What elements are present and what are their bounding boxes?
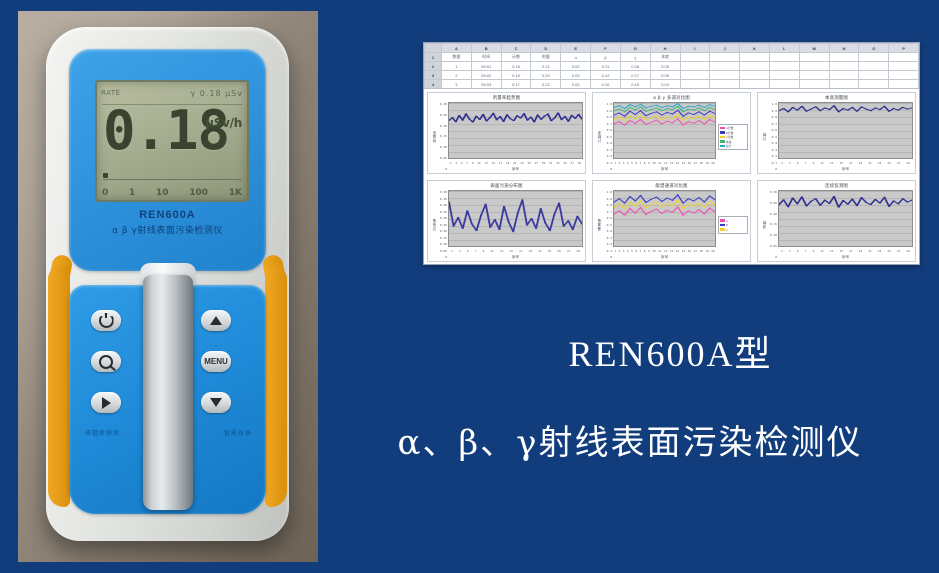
x-tick: 14 — [676, 249, 679, 253]
legend-swatch — [720, 219, 725, 222]
chart-body: 剂量率0.300.250.200.150.100.050135791113151… — [430, 102, 583, 172]
column-header[interactable]: M — [799, 44, 829, 53]
legend-label: γ — [726, 228, 728, 232]
y-tick: 0.1 — [607, 250, 612, 253]
x-tick: 19 — [859, 249, 862, 253]
x-tick: 7 — [805, 161, 807, 165]
x-tick: 3 — [623, 249, 625, 253]
x-axis-label: 序号 — [448, 254, 583, 260]
x-tick: 12 — [664, 161, 667, 165]
chevron-up-icon — [210, 316, 222, 325]
table-cell[interactable]: 本底 — [650, 53, 680, 62]
x-tick: 13 — [670, 161, 673, 165]
x-tick: 7 — [466, 161, 468, 165]
x-tick: 11 — [658, 249, 661, 253]
x-tick: 10 — [652, 249, 655, 253]
plot-wrapper: 1357911131517192123252729序号 — [778, 102, 913, 172]
table-cell[interactable] — [710, 53, 740, 62]
y-tick: 0 — [445, 256, 447, 259]
table-cell[interactable]: 0.02 — [561, 80, 591, 89]
chart-body: 计数率1.00.90.80.70.60.50.40.30.20.10123456… — [595, 102, 748, 172]
legend-swatch — [720, 131, 725, 134]
column-header[interactable]: E — [561, 44, 591, 53]
table-cell[interactable] — [740, 71, 770, 80]
x-tick: 6 — [635, 161, 637, 165]
table-cell[interactable] — [889, 71, 919, 80]
plot-area — [778, 102, 913, 159]
chart-panel-chart-1[interactable]: 剂量率趋势图剂量率0.300.250.200.150.100.050135791… — [427, 92, 586, 174]
table-cell[interactable] — [799, 80, 829, 89]
y-tick: 0.30 — [770, 191, 777, 194]
table-cell[interactable]: 0.10 — [591, 80, 621, 89]
table-cell[interactable] — [799, 53, 829, 62]
x-tick: 19 — [529, 249, 532, 253]
x-tick: 17 — [849, 249, 852, 253]
x-tick: 19 — [705, 249, 708, 253]
y-tick: 0.50 — [440, 191, 447, 194]
table-cell[interactable]: 1 — [442, 62, 472, 71]
table-row[interactable]: 3209:020.190.200.030.120.170.05 — [425, 71, 919, 80]
y-tick: 0.9 — [772, 110, 777, 113]
x-tick: 29 — [907, 161, 910, 165]
x-tick: 25 — [557, 249, 560, 253]
y-tick: 0 — [610, 256, 612, 259]
y-tick: 0 — [610, 168, 612, 171]
y-tick: 0.2 — [772, 155, 777, 158]
x-tick: 2 — [618, 249, 620, 253]
x-tick: 13 — [484, 161, 487, 165]
legend-swatch — [720, 127, 725, 130]
y-tick: 0 — [775, 168, 777, 171]
table-cell[interactable] — [889, 53, 919, 62]
y-tick: 0.25 — [440, 114, 447, 117]
x-tick: 4 — [627, 249, 629, 253]
table-row[interactable]: 4309:030.170.220.020.100.190.04 — [425, 80, 919, 89]
chart-svg — [614, 103, 715, 158]
y-tick: 0.05 — [770, 245, 777, 248]
x-tick: 5 — [797, 161, 799, 165]
y-axis-ticks: 1.00.90.80.70.60.50.40.30.20.10 — [601, 102, 613, 172]
x-tick: 5 — [631, 249, 633, 253]
chart-title: α β γ 多道对比图 — [595, 95, 748, 102]
x-tick: 4 — [627, 161, 629, 165]
column-header[interactable]: F — [591, 44, 621, 53]
chart-panel-chart-6[interactable]: 连续监测图读数0.300.250.200.150.100.05013579111… — [757, 180, 916, 262]
row-header[interactable]: 2 — [425, 62, 442, 71]
column-header[interactable]: D — [531, 44, 561, 53]
y-axis-ticks: 1.00.90.80.70.60.50.40.30.20.10 — [766, 102, 778, 172]
y-tick: 0.15 — [770, 223, 777, 226]
search-icon — [99, 355, 113, 369]
legend-entry: 总计 — [720, 144, 746, 149]
x-axis-label: 序号 — [778, 254, 913, 260]
legend-swatch — [720, 145, 725, 148]
plot-area — [448, 190, 583, 247]
table-cell[interactable] — [889, 62, 919, 71]
y-tick: 0.20 — [440, 230, 447, 233]
table-cell[interactable]: 0.18 — [620, 62, 650, 71]
chart-svg — [449, 103, 582, 158]
x-tick: 25 — [887, 249, 890, 253]
table-row[interactable]: 1数据时间计数剂量αβγ本底 — [425, 53, 919, 62]
table-cell[interactable]: 0.02 — [561, 62, 591, 71]
table-cell[interactable]: 0.21 — [531, 62, 561, 71]
x-tick: 13 — [500, 249, 503, 253]
legend-label: 总计 — [726, 144, 732, 148]
y-tick: 0.7 — [772, 123, 777, 126]
column-header[interactable]: G — [620, 44, 650, 53]
legend-label: β — [726, 223, 728, 227]
table-cell[interactable] — [740, 62, 770, 71]
table-cell[interactable]: 0.22 — [531, 80, 561, 89]
table-cell[interactable]: γ — [620, 53, 650, 62]
spreadsheet-header-row: ABCDEFGHIJKLMNOP — [425, 44, 919, 53]
x-tick: 5 — [631, 161, 633, 165]
table-row[interactable]: 2109:010.180.210.020.110.180.05 — [425, 62, 919, 71]
chevron-down-icon — [210, 398, 222, 407]
x-axis-label: 序号 — [448, 166, 583, 172]
legend-label: β计数 — [726, 131, 733, 135]
table-cell[interactable] — [710, 80, 740, 89]
chart-title: 能谱通道对比图 — [595, 183, 748, 190]
table-cell[interactable]: 0.17 — [620, 71, 650, 80]
x-tick: 27 — [897, 161, 900, 165]
table-cell[interactable] — [799, 62, 829, 71]
x-tick: 14 — [676, 161, 679, 165]
table-cell[interactable] — [859, 71, 889, 80]
y-tick: 0.6 — [607, 129, 612, 132]
plot-area — [613, 190, 716, 247]
lcd-primary-reading: 0.18 — [103, 104, 229, 158]
x-tick: 19 — [859, 161, 862, 165]
y-tick: 0.05 — [440, 157, 447, 160]
column-header[interactable]: B — [471, 44, 501, 53]
grip-right — [265, 265, 287, 507]
table-cell[interactable]: 2 — [442, 71, 472, 80]
y-tick: 0.9 — [607, 198, 612, 201]
y-tick: 0.25 — [440, 224, 447, 227]
column-header[interactable]: I — [680, 44, 710, 53]
search-button[interactable] — [91, 351, 121, 372]
table-cell[interactable] — [680, 80, 710, 89]
lcd-unit-label: μSv/h — [205, 116, 242, 130]
table-cell[interactable]: α — [561, 53, 591, 62]
chart-grid: 剂量率趋势图剂量率0.300.250.200.150.100.050135791… — [424, 89, 919, 265]
x-tick: 11 — [490, 249, 493, 253]
x-tick: 9 — [648, 161, 650, 165]
model-name: REN600A — [46, 209, 289, 221]
x-tick: 1 — [614, 249, 616, 253]
x-tick: 27 — [567, 249, 570, 253]
chart-title: 本底测量图 — [760, 95, 913, 102]
column-header[interactable]: A — [442, 44, 472, 53]
x-tick: 17 — [499, 161, 502, 165]
table-cell[interactable] — [889, 80, 919, 89]
column-header[interactable]: P — [889, 44, 919, 53]
table-cell[interactable]: 09:01 — [471, 62, 501, 71]
power-button[interactable] — [91, 310, 121, 331]
table-cell[interactable]: 0.05 — [650, 62, 680, 71]
x-tick: 21 — [538, 249, 541, 253]
y-axis-label: 读数 — [761, 221, 766, 229]
legend-label: α计数 — [726, 126, 733, 130]
x-tick: 20 — [711, 161, 714, 165]
column-header[interactable]: L — [769, 44, 799, 53]
x-tick: 16 — [688, 161, 691, 165]
y-tick: 0 — [445, 168, 447, 171]
y-tick: 0.10 — [440, 243, 447, 246]
x-tick: 11 — [658, 161, 661, 165]
plot-wrapper: 1357911131517192123252729序号 — [448, 190, 583, 260]
lcd-tick-4: 1K — [229, 188, 242, 198]
x-axis-ticks: 1234567891011121314151617181920 — [613, 247, 716, 254]
table-cell[interactable]: 时间 — [471, 53, 501, 62]
y-tick: 0.10 — [440, 146, 447, 149]
x-tick: 7 — [805, 249, 807, 253]
chart-panel-chart-4[interactable]: 表面污染分布图污染值0.500.450.400.350.300.250.200.… — [427, 180, 586, 262]
table-cell[interactable]: 0.11 — [591, 62, 621, 71]
table-cell[interactable] — [710, 62, 740, 71]
column-header[interactable]: C — [501, 44, 531, 53]
table-cell[interactable] — [859, 80, 889, 89]
chart-body: 通道值1.00.90.80.70.60.50.40.30.20.10123456… — [595, 190, 748, 260]
table-cell[interactable] — [680, 71, 710, 80]
y-tick: 0.40 — [440, 204, 447, 207]
x-tick: 29 — [907, 249, 910, 253]
chart-panel-chart-2[interactable]: α β γ 多道对比图计数率1.00.90.80.70.60.50.40.30.… — [592, 92, 751, 174]
table-cell[interactable]: 0.03 — [561, 71, 591, 80]
chart-legend: αβγ — [718, 216, 748, 234]
column-header[interactable]: J — [710, 44, 740, 53]
x-tick: 3 — [623, 161, 625, 165]
x-axis-ticks: 13579111315171921232527293133353739 — [448, 159, 583, 166]
table-cell[interactable] — [680, 53, 710, 62]
legend-swatch — [720, 224, 725, 227]
x-axis-ticks: 1357911131517192123252729 — [778, 159, 913, 166]
chart-panel-chart-3[interactable]: 本底测量图计数1.00.90.80.70.60.50.40.30.20.1013… — [757, 92, 916, 174]
device-handle — [143, 275, 193, 510]
x-tick: 39 — [578, 161, 581, 165]
x-tick: 16 — [688, 249, 691, 253]
x-axis-label: 序号 — [613, 254, 716, 260]
x-tick: 7 — [640, 161, 642, 165]
table-cell[interactable]: 0.19 — [620, 80, 650, 89]
x-tick: 1 — [781, 249, 783, 253]
play-button[interactable] — [91, 392, 121, 413]
x-axis-ticks: 1357911131517192123252729 — [778, 247, 913, 254]
y-tick: 0.8 — [607, 116, 612, 119]
table-cell[interactable] — [859, 62, 889, 71]
legend-label: α — [726, 219, 728, 223]
table-cell[interactable]: 09:02 — [471, 71, 501, 80]
table-cell[interactable] — [769, 62, 799, 71]
lcd-bargraph — [103, 171, 241, 180]
table-cell[interactable]: 计数 — [501, 53, 531, 62]
table-cell[interactable]: 0.19 — [501, 71, 531, 80]
y-tick: 0.4 — [607, 142, 612, 145]
x-tick: 27 — [535, 161, 538, 165]
x-tick: 33 — [556, 161, 559, 165]
table-cell[interactable]: β — [591, 53, 621, 62]
x-tick: 35 — [563, 161, 566, 165]
column-header[interactable]: K — [740, 44, 770, 53]
row-header[interactable]: 4 — [425, 80, 442, 89]
table-cell[interactable] — [769, 71, 799, 80]
chart-title: 表面污染分布图 — [430, 183, 583, 190]
column-header[interactable]: O — [859, 44, 889, 53]
x-tick: 5 — [467, 249, 469, 253]
column-header[interactable]: H — [650, 44, 680, 53]
down-button[interactable] — [201, 392, 231, 413]
y-tick: 0.20 — [770, 213, 777, 216]
y-tick: 0.5 — [607, 136, 612, 139]
x-tick: 19 — [506, 161, 509, 165]
table-cell[interactable] — [829, 80, 859, 89]
model-subtitle: α β γ射线表面污染检测仪 — [46, 223, 289, 236]
table-cell[interactable]: 3 — [442, 80, 472, 89]
x-tick: 29 — [542, 161, 545, 165]
table-cell[interactable]: 0.04 — [650, 80, 680, 89]
table-cell[interactable] — [859, 53, 889, 62]
table-cell[interactable]: 0.05 — [650, 71, 680, 80]
lcd-secondary-readout: γ 0.18 μSv — [190, 89, 243, 98]
x-tick: 15 — [682, 249, 685, 253]
x-tick: 23 — [520, 161, 523, 165]
table-cell[interactable] — [710, 71, 740, 80]
table-cell[interactable]: 数据 — [442, 53, 472, 62]
data-spreadsheet[interactable]: ABCDEFGHIJKLMNOP1数据时间计数剂量αβγ本底2109:010.1… — [424, 43, 919, 89]
x-tick: 13 — [830, 249, 833, 253]
y-tick: 1.0 — [607, 103, 612, 106]
y-tick: 0.9 — [607, 110, 612, 113]
y-tick: 1.0 — [772, 103, 777, 106]
x-tick: 15 — [840, 161, 843, 165]
y-tick: 0.5 — [772, 136, 777, 139]
x-tick: 9 — [648, 249, 650, 253]
row-header[interactable]: 1 — [425, 53, 442, 62]
y-tick: 0.35 — [440, 211, 447, 214]
y-axis-ticks: 0.300.250.200.150.100.050 — [766, 190, 778, 260]
lcd-scale-ticks: 0 1 10 100 1K — [102, 188, 242, 198]
lcd-mode-indicator: RATE — [101, 89, 121, 97]
y-tick: 0.6 — [607, 217, 612, 220]
x-tick: 21 — [868, 161, 871, 165]
chart-svg — [779, 191, 912, 246]
x-tick: 13 — [670, 249, 673, 253]
column-header[interactable] — [425, 44, 442, 53]
x-tick: 15 — [682, 161, 685, 165]
x-tick: 1 — [614, 161, 616, 165]
x-tick: 7 — [640, 249, 642, 253]
table-cell[interactable]: 0.18 — [501, 62, 531, 71]
table-cell[interactable] — [829, 62, 859, 71]
x-tick: 15 — [840, 249, 843, 253]
y-axis-label: 剂量率 — [431, 131, 436, 143]
menu-button[interactable]: MENU — [201, 351, 231, 372]
y-tick: 0.20 — [440, 125, 447, 128]
x-tick: 2 — [618, 161, 620, 165]
y-tick: 0.3 — [772, 149, 777, 152]
y-axis-label: 计数 — [761, 133, 766, 141]
x-tick: 31 — [549, 161, 552, 165]
x-tick: 5 — [461, 161, 463, 165]
x-tick: 13 — [830, 161, 833, 165]
y-tick: 1.0 — [607, 191, 612, 194]
x-axis-ticks: 1357911131517192123252729 — [448, 247, 583, 254]
product-photo: RATE γ 0.18 μSv 0.18 μSv/h 0 1 10 100 1K… — [18, 11, 318, 562]
y-tick: 0.15 — [440, 237, 447, 240]
chart-body: 污染值0.500.450.400.350.300.250.200.150.100… — [430, 190, 583, 260]
table-cell[interactable] — [740, 53, 770, 62]
y-axis-ticks: 1.00.90.80.70.60.50.40.30.20.10 — [601, 190, 613, 260]
y-tick: 0.3 — [607, 149, 612, 152]
column-header[interactable]: N — [829, 44, 859, 53]
table-cell[interactable] — [769, 80, 799, 89]
x-tick: 17 — [849, 161, 852, 165]
x-tick: 17 — [694, 249, 697, 253]
x-tick: 18 — [699, 249, 702, 253]
table-cell[interactable]: 0.20 — [531, 71, 561, 80]
table-cell[interactable]: 0.12 — [591, 71, 621, 80]
plot-area — [778, 190, 913, 247]
x-tick: 11 — [820, 249, 823, 253]
row-header[interactable]: 3 — [425, 71, 442, 80]
y-tick: 0.7 — [607, 123, 612, 126]
lower-mark-right: 智能仪表 — [224, 428, 252, 437]
table-cell[interactable] — [740, 80, 770, 89]
plot-wrapper: 1357911131517192123252729序号 — [778, 190, 913, 260]
x-tick: 8 — [644, 249, 646, 253]
x-tick: 3 — [789, 161, 791, 165]
grip-left — [48, 265, 70, 507]
y-tick: 0.45 — [440, 198, 447, 201]
table-cell[interactable]: 09:03 — [471, 80, 501, 89]
lcd-screen: RATE γ 0.18 μSv 0.18 μSv/h 0 1 10 100 1K — [95, 80, 249, 202]
y-tick: 0.7 — [607, 211, 612, 214]
x-tick: 12 — [664, 249, 667, 253]
x-tick: 37 — [571, 161, 574, 165]
caption-model: REN600A型 — [423, 325, 918, 377]
lower-mark-left: 核辐射探测 — [85, 428, 120, 437]
table-cell[interactable] — [799, 71, 829, 80]
x-tick: 9 — [472, 161, 474, 165]
plot-wrapper: 1234567891011121314151617181920序号 — [613, 190, 716, 260]
table-cell[interactable] — [829, 71, 859, 80]
x-tick: 25 — [887, 161, 890, 165]
x-tick: 11 — [477, 161, 480, 165]
chart-svg — [779, 103, 912, 158]
y-tick: 0.8 — [607, 204, 612, 207]
y-axis-label: 通道值 — [596, 219, 601, 231]
table-cell[interactable]: 剂量 — [531, 53, 561, 62]
up-button[interactable] — [201, 310, 231, 331]
x-tick: 15 — [510, 249, 513, 253]
spreadsheet-table: ABCDEFGHIJKLMNOP1数据时间计数剂量αβγ本底2109:010.1… — [424, 43, 919, 89]
y-tick: 0.6 — [772, 129, 777, 132]
plot-area — [448, 102, 583, 159]
x-tick: 5 — [797, 249, 799, 253]
table-cell[interactable] — [829, 53, 859, 62]
y-tick: 0.3 — [607, 237, 612, 240]
x-tick: 17 — [694, 161, 697, 165]
table-cell[interactable]: 0.17 — [501, 80, 531, 89]
lcd-tick-2: 10 — [156, 188, 169, 198]
x-tick: 23 — [548, 249, 551, 253]
table-cell[interactable] — [680, 62, 710, 71]
chart-panel-chart-5[interactable]: 能谱通道对比图通道值1.00.90.80.70.60.50.40.30.20.1… — [592, 180, 751, 262]
x-tick: 19 — [705, 161, 708, 165]
table-cell[interactable] — [769, 53, 799, 62]
